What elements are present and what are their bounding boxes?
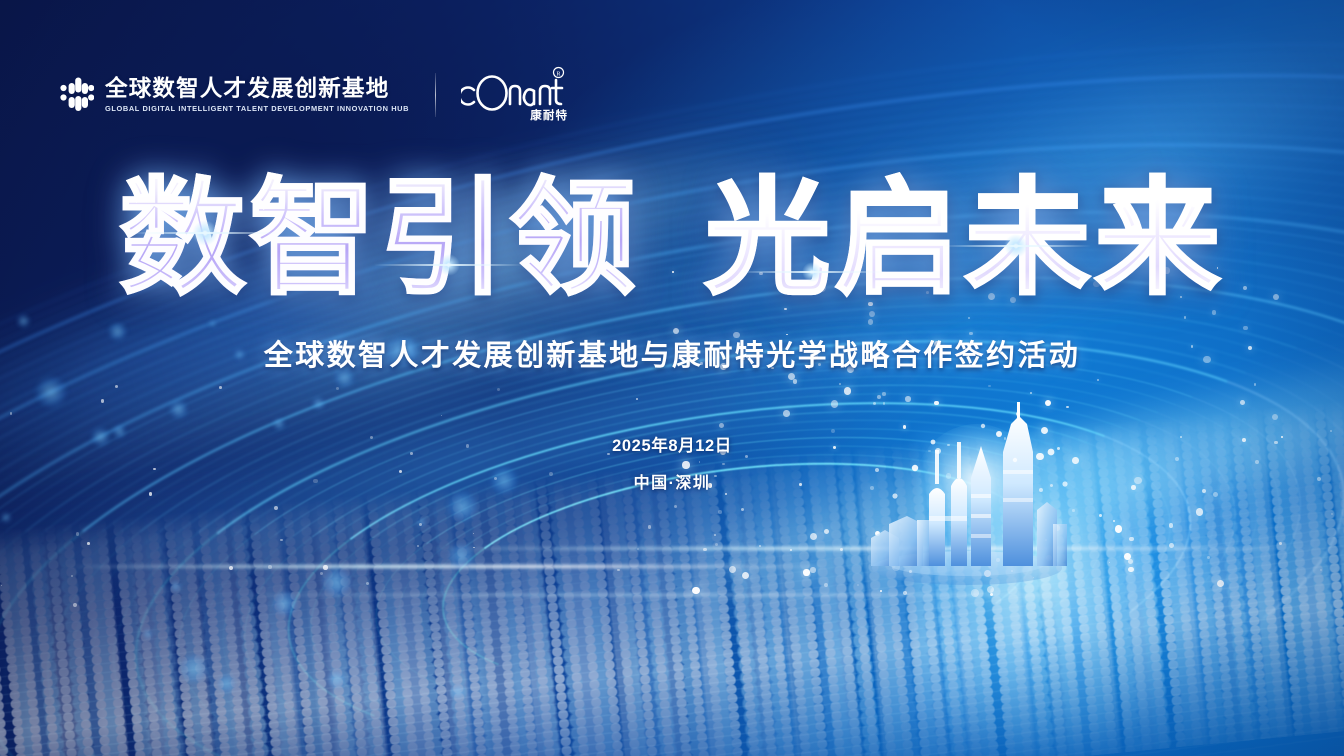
poster-canvas: 全球数智人才发展创新基地 GLOBAL DIGITAL INTELLIGENT … xyxy=(0,0,1344,756)
event-meta: 2025年8月12日 中国·深圳 xyxy=(0,432,1344,493)
hub-logo-text: 全球数智人才发展创新基地 GLOBAL DIGITAL INTELLIGENT … xyxy=(105,76,409,113)
city-skyline-illustration xyxy=(855,398,1085,588)
title-part-1-text: 数智引领 xyxy=(120,168,640,309)
dot-matrix-logo-icon xyxy=(60,76,94,114)
hub-name-cn: 全球数智人才发展创新基地 xyxy=(105,76,409,101)
title-part-1: 数智引领 xyxy=(120,176,640,302)
conant-logo: R 康耐特 xyxy=(461,66,569,124)
conant-name-cn: 康耐特 xyxy=(530,107,568,123)
event-date: 2025年8月12日 xyxy=(0,432,1344,456)
hub-name-en: GLOBAL DIGITAL INTELLIGENT TALENT DEVELO… xyxy=(105,105,409,114)
main-title: 数智引领 光启未来 xyxy=(0,176,1344,302)
logo-divider xyxy=(435,73,436,117)
event-subtitle: 全球数智人才发展创新基地与康耐特光学战略合作签约活动 xyxy=(0,332,1344,374)
title-part-2: 光启未来 xyxy=(704,176,1224,302)
title-part-2-text: 光启未来 xyxy=(704,168,1224,309)
event-location: 中国·深圳 xyxy=(0,469,1344,493)
header-logo-bar: 全球数智人才发展创新基地 GLOBAL DIGITAL INTELLIGENT … xyxy=(60,66,569,124)
